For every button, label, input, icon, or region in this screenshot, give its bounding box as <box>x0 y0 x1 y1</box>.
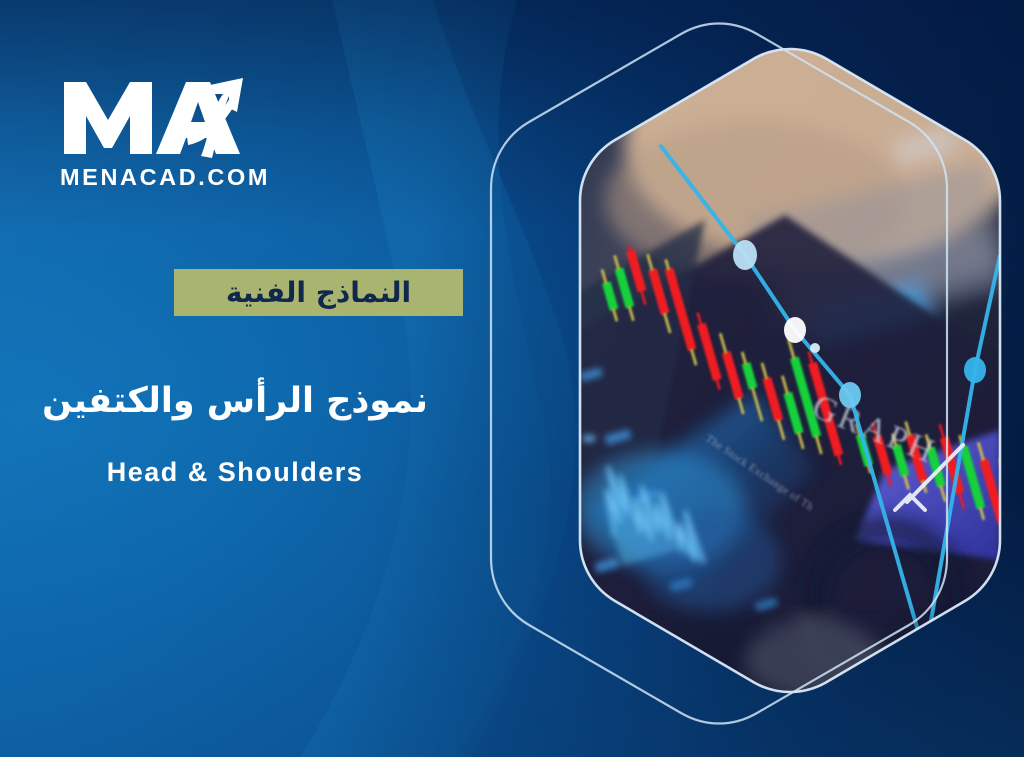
title-english: Head & Shoulders <box>0 457 470 488</box>
slide-root: GRAPH The Stock Exchange of Th <box>0 0 1024 757</box>
logo-mark-icon <box>60 72 280 162</box>
hero-hexagon: GRAPH The Stock Exchange of Th <box>455 40 1015 720</box>
title-block: نموذج الرأس والكتفين Head & Shoulders <box>0 380 470 488</box>
category-badge-label: النماذج الفنية <box>226 279 411 307</box>
trend-node <box>733 240 757 270</box>
trend-node <box>964 357 986 383</box>
title-arabic: نموذج الرأس والكتفين <box>0 380 470 424</box>
trend-node <box>839 382 861 408</box>
trend-node <box>810 343 820 353</box>
logo-domain-text: MENACAD.COM <box>60 164 300 191</box>
category-badge: النماذج الفنية <box>174 269 463 316</box>
trend-node <box>913 642 937 668</box>
trend-node <box>784 317 806 343</box>
brand-logo[interactable]: MENACAD.COM <box>60 72 300 191</box>
